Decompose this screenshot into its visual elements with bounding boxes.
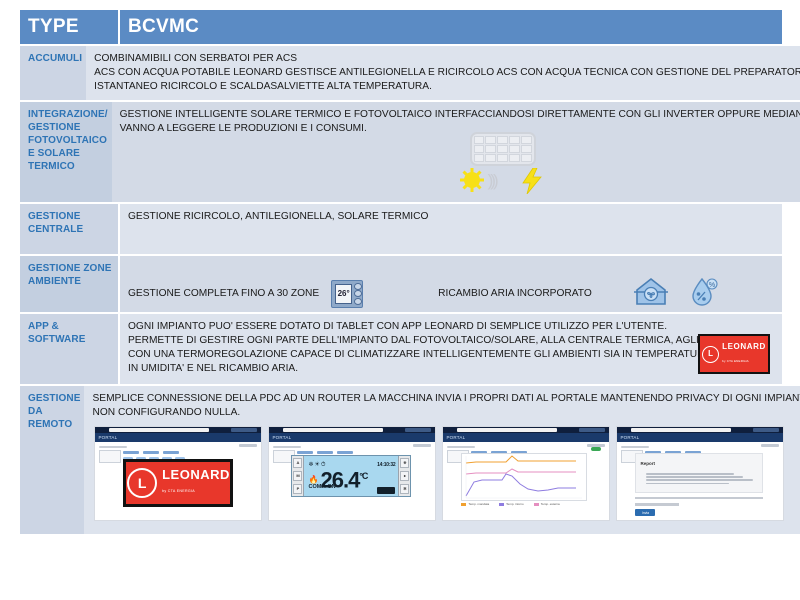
thermostat-icon: 26° bbox=[331, 280, 363, 308]
screenshot-portal-report-page[interactable]: PORTAL Report bbox=[616, 426, 784, 521]
leonard-tagline: by CTA ENERGIA bbox=[162, 484, 230, 498]
row-text-line: ACS CON ACQUA POTABILE LEONARD GESTISCE … bbox=[94, 66, 800, 80]
browser-tabs bbox=[231, 428, 257, 432]
table-header-row: TYPE BCVMC bbox=[20, 10, 782, 44]
page-account-chip bbox=[761, 444, 779, 447]
row-text-line: CON UNA TERMOREGOLAZIONE CAPACE DI CLIMA… bbox=[128, 348, 774, 362]
row-text-line: COMBINAMIBILI CON SERBATOI PER ACS bbox=[94, 52, 800, 66]
leonard-logo: L LEONARD by CTA ENERGIA bbox=[698, 334, 770, 374]
portal-brand-label: PORTAL bbox=[620, 431, 639, 445]
leonard-wordmark: LEONARD bbox=[722, 342, 766, 351]
leonard-seal-icon: L bbox=[127, 468, 157, 498]
air-exchange-text: RICAMBIO ARIA INCORPORATO bbox=[438, 287, 592, 301]
table-row-gestione-centrale: GESTIONE CENTRALE GESTIONE RICIRCOLO, AN… bbox=[20, 204, 782, 254]
table-row-gestione-zone: GESTIONE ZONE AMBIENTE GESTIONE COMPLETA… bbox=[20, 256, 782, 312]
portal-navbar: PORTAL bbox=[95, 433, 261, 442]
report-line bbox=[646, 476, 743, 478]
lcd-temperature-unit: °C bbox=[359, 471, 367, 481]
zone-count-text: GESTIONE COMPLETA FINO A 30 ZONE bbox=[128, 287, 319, 301]
report-submit-button[interactable]: Invia bbox=[635, 509, 655, 516]
row-text-line: SEMPLICE CONNESSIONE DELLA PDC AD UN ROU… bbox=[92, 392, 800, 406]
page-nav bbox=[297, 451, 431, 454]
series-line-esterna bbox=[466, 474, 576, 496]
legend-item: Temp. ritorno bbox=[499, 503, 524, 506]
chart-svg bbox=[462, 454, 586, 500]
lcd-screen: ❄☀⏱ 14:10:32 26.4°C 🔥 COMP. ON bbox=[304, 456, 398, 496]
portal-brand-label: PORTAL bbox=[272, 431, 291, 445]
page-account-chip bbox=[239, 444, 257, 447]
screenshot-leonard-logo: L LEONARD by CTA ENERGIA bbox=[123, 459, 233, 507]
leonard-tagline: by CTA ENERGIA bbox=[722, 354, 766, 368]
report-note bbox=[635, 497, 763, 499]
browser-tabs bbox=[405, 428, 431, 432]
page-account-chip bbox=[413, 444, 431, 447]
page-sidebar bbox=[99, 447, 121, 463]
series-line-ritorno bbox=[466, 469, 576, 474]
leonard-seal-icon: L bbox=[702, 346, 719, 363]
portal-navbar: PORTAL bbox=[269, 433, 435, 442]
report-line bbox=[646, 479, 752, 481]
chart-legend: Temp. mandata Temp. ritorno Temp. estern… bbox=[461, 503, 559, 506]
report-title: Report bbox=[640, 457, 758, 471]
report-line bbox=[646, 473, 733, 475]
browser-tabs bbox=[753, 428, 779, 432]
row-label-accumuli: ACCUMULI bbox=[20, 46, 86, 100]
address-bar bbox=[631, 428, 731, 432]
row-label-app-software: APP & SOFTWARE bbox=[20, 314, 118, 384]
header-type-label: TYPE bbox=[28, 16, 79, 38]
thermostat-lcd-panel: AMP ❄☀⏱ 14:10:32 26.4°C 🔥 COMP. ON ✳▸✲ bbox=[291, 455, 411, 497]
screenshot-portal-logo-page[interactable]: PORTAL L LEONARD by CTA ENERGIA bbox=[94, 426, 262, 521]
row-body-integrazione: GESTIONE INTELLIGENTE SOLARE TERMICO E F… bbox=[112, 102, 800, 202]
legend-item: Temp. mandata bbox=[461, 503, 489, 506]
row-text-line: GESTIONE INTELLIGENTE SOLARE TERMICO E F… bbox=[120, 108, 800, 122]
report-panel: Report bbox=[635, 453, 763, 493]
header-cell-type: TYPE bbox=[20, 10, 118, 44]
house-ventilation-icon bbox=[634, 277, 668, 312]
screenshot-portal-thermostat-page[interactable]: PORTAL AMP ❄☀⏱ 14:10:32 26.4°C bbox=[268, 426, 436, 521]
row-text-line: IN UMIDITA' E NEL RICAMBIO ARIA. bbox=[128, 362, 774, 376]
header-product-label: BCVMC bbox=[128, 16, 199, 38]
row-body-app-software: OGNI IMPIANTO PUO' ESSERE DOTATO DI TABL… bbox=[120, 314, 782, 384]
report-line bbox=[646, 483, 729, 485]
lcd-left-buttons[interactable]: AMP bbox=[292, 456, 304, 496]
portal-screenshot-gallery: PORTAL L LEONARD by CTA ENERGIA bbox=[92, 426, 800, 525]
rays-icon: ))) bbox=[488, 172, 496, 189]
portal-brand-label: PORTAL bbox=[446, 431, 465, 445]
address-bar bbox=[109, 428, 209, 432]
table-row-app-software: APP & SOFTWARE OGNI IMPIANTO PUO' ESSERE… bbox=[20, 314, 782, 384]
legend-item: Temp. esterna bbox=[534, 503, 560, 506]
row-label-gestione-remoto: GESTIONE DA REMOTO bbox=[20, 386, 84, 534]
solar-panel-icon bbox=[470, 132, 536, 166]
row-body-gestione-centrale: GESTIONE RICIRCOLO, ANTILEGIONELLA, SOLA… bbox=[120, 204, 782, 254]
portal-navbar: PORTAL bbox=[443, 433, 609, 442]
row-text-line: PERMETTE DI GESTIRE OGNI PARTE DELL'IMPI… bbox=[128, 334, 774, 348]
lcd-clock: 14:10:32 bbox=[377, 458, 395, 472]
row-label-gestione-zone: GESTIONE ZONE AMBIENTE bbox=[20, 256, 118, 312]
solar-graphic: ))) bbox=[444, 132, 574, 194]
table-row-gestione-remoto: GESTIONE DA REMOTO SEMPLICE CONNESSIONE … bbox=[20, 386, 782, 534]
thermostat-display-value: 26° bbox=[335, 284, 352, 304]
lcd-indicator-bar bbox=[377, 487, 395, 494]
chart-toggle-switch[interactable] bbox=[591, 447, 601, 451]
product-feature-table: TYPE BCVMC ACCUMULI COMBINAMIBILI CON SE… bbox=[20, 10, 782, 587]
row-label-gestione-centrale: GESTIONE CENTRALE bbox=[20, 204, 118, 254]
browser-tabs bbox=[579, 428, 605, 432]
address-bar bbox=[457, 428, 557, 432]
table-row-accumuli: ACCUMULI COMBINAMIBILI CON SERBATOI PER … bbox=[20, 46, 782, 100]
temperature-line-chart bbox=[461, 453, 587, 501]
lcd-right-buttons[interactable]: ✳▸✲ bbox=[398, 456, 410, 496]
row-body-gestione-zone: GESTIONE COMPLETA FINO A 30 ZONE 26° RIC… bbox=[120, 256, 782, 312]
row-label-integrazione: INTEGRAZIONE/ GESTIONE FOTOVOLTAICO E SO… bbox=[20, 102, 112, 202]
address-bar bbox=[283, 428, 383, 432]
row-text-line: GESTIONE RICIRCOLO, ANTILEGIONELLA, SOLA… bbox=[128, 210, 774, 224]
table-row-integrazione: INTEGRAZIONE/ GESTIONE FOTOVOLTAICO E SO… bbox=[20, 102, 782, 202]
humidity-drop-icon: % bbox=[690, 277, 718, 312]
header-cell-product: BCVMC bbox=[120, 10, 782, 44]
leonard-wordmark: LEONARD bbox=[162, 467, 230, 482]
row-text-line: NON CONFIGURANDO NULLA. bbox=[92, 406, 800, 420]
row-text-line: OGNI IMPIANTO PUO' ESSERE DOTATO DI TABL… bbox=[128, 320, 774, 334]
portal-brand-label: PORTAL bbox=[98, 431, 117, 445]
portal-navbar: PORTAL bbox=[617, 433, 783, 442]
sun-icon bbox=[464, 172, 480, 188]
svg-text:%: % bbox=[709, 282, 715, 289]
row-body-accumuli: COMBINAMIBILI CON SERBATOI PER ACS ACS C… bbox=[86, 46, 800, 100]
lcd-status: COMP. ON bbox=[308, 480, 335, 494]
page-nav bbox=[123, 451, 257, 454]
row-body-gestione-remoto: SEMPLICE CONNESSIONE DELLA PDC AD UN ROU… bbox=[84, 386, 800, 534]
row-text-line: ISTANTANEO RICIRCOLO E SCALDASALVIETTE A… bbox=[94, 80, 800, 94]
screenshot-portal-chart-page[interactable]: PORTAL bbox=[442, 426, 610, 521]
series-line-mandata bbox=[466, 456, 576, 463]
